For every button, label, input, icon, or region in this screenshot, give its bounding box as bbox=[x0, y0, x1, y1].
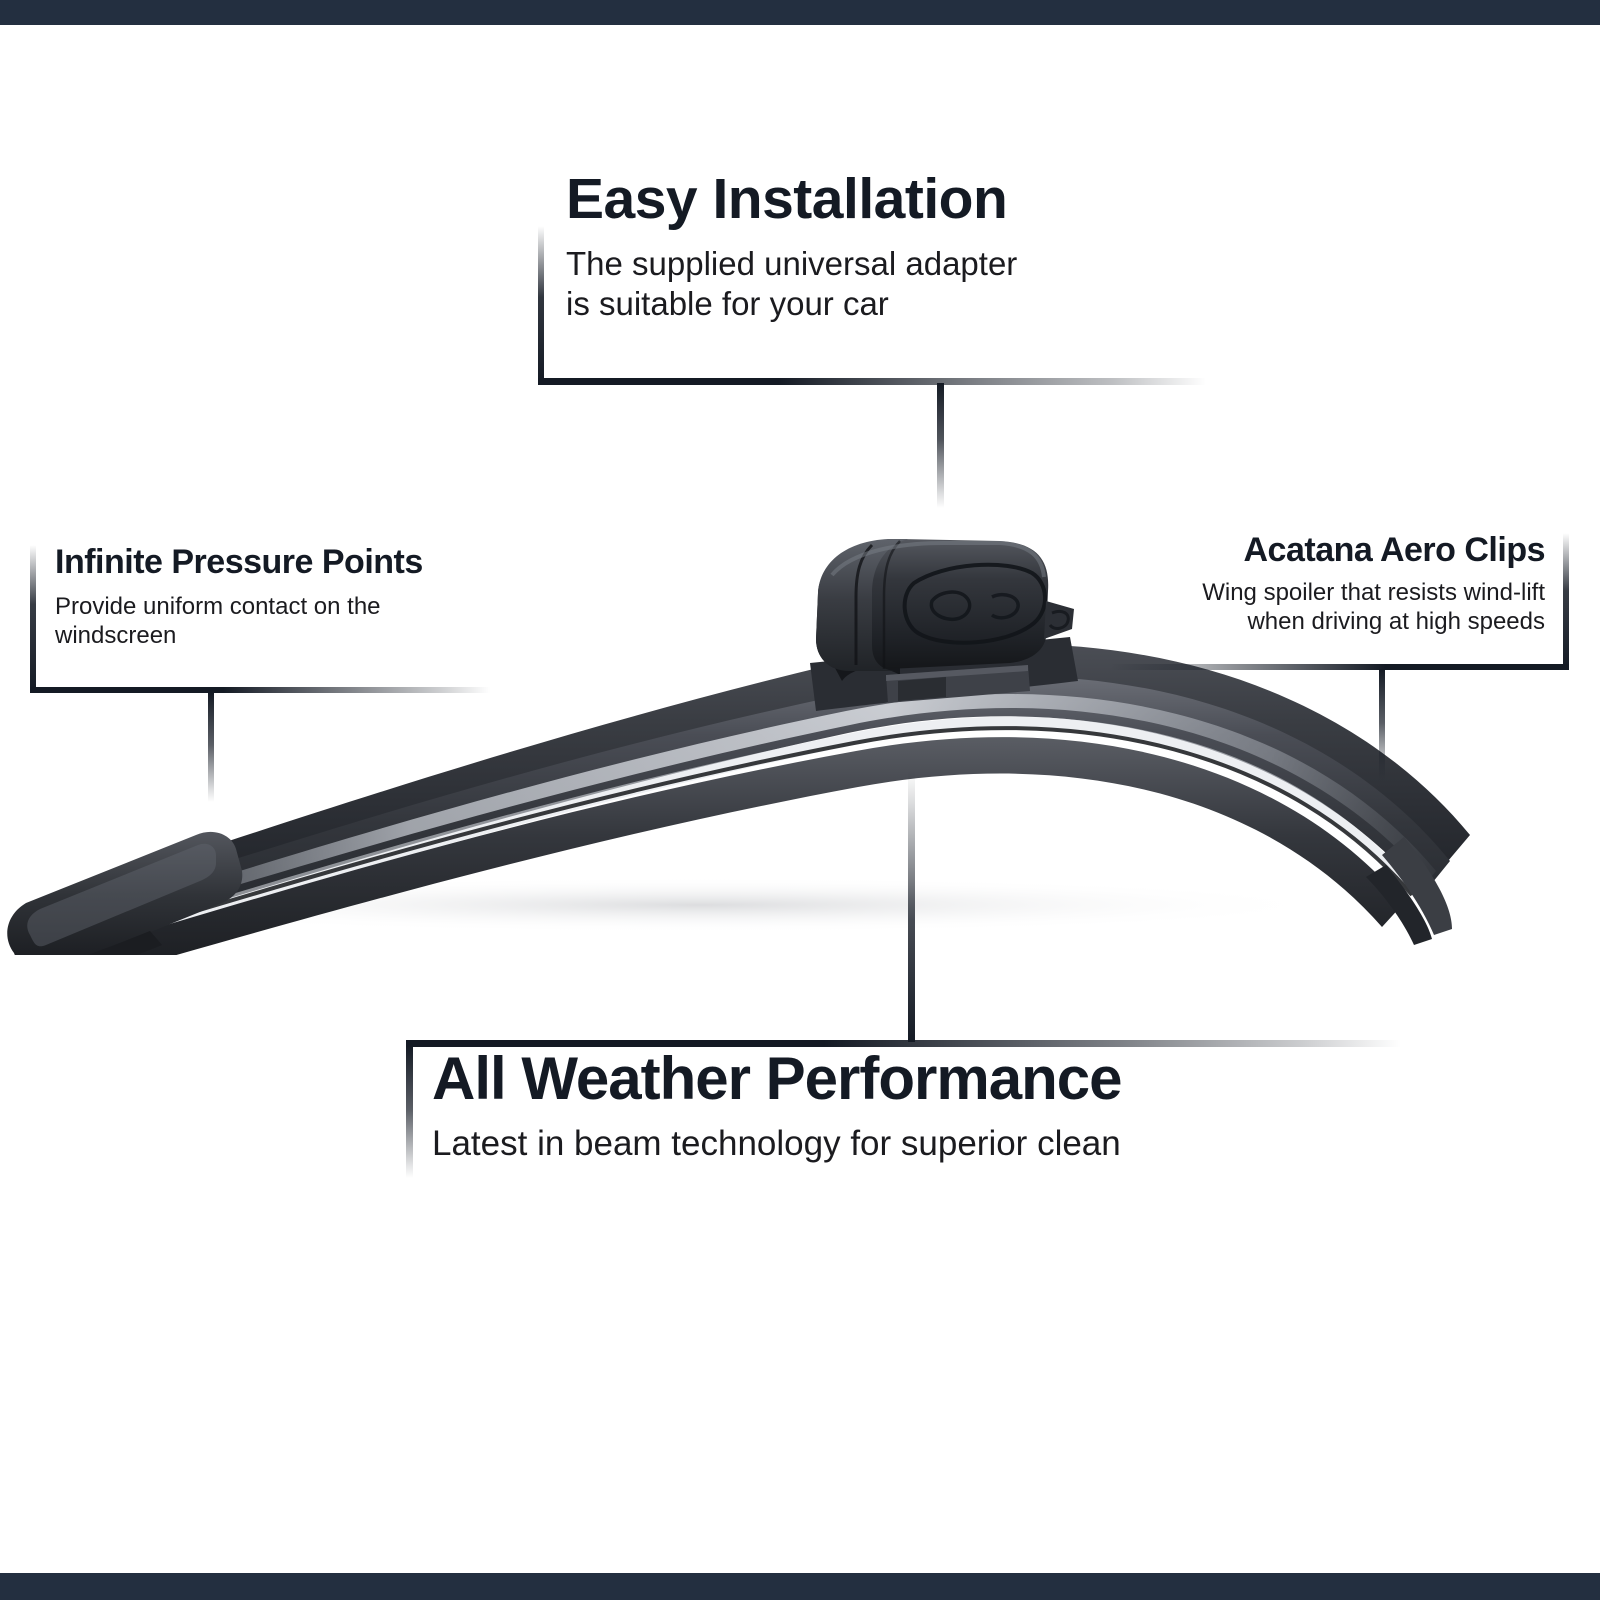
all-weather-left-rule bbox=[406, 1046, 413, 1178]
easy-installation-title: Easy Installation bbox=[540, 170, 1140, 228]
top-brand-bar bbox=[0, 0, 1600, 25]
easy-installation-subtitle: The supplied universal adapter is suitab… bbox=[540, 228, 1140, 325]
infinite-pressure-bottom-rule bbox=[30, 687, 490, 693]
aero-clips-subtitle: Wing spoiler that resists wind-lift when… bbox=[1000, 568, 1545, 637]
easy-installation-subtitle-line-1: The supplied universal adapter bbox=[566, 245, 1017, 282]
callout-acatana-aero-clips: Acatana Aero Clips Wing spoiler that res… bbox=[1000, 533, 1545, 636]
all-weather-connector-line bbox=[908, 770, 915, 1042]
easy-installation-connector-line bbox=[937, 383, 944, 508]
all-weather-title: All Weather Performance bbox=[432, 1048, 1432, 1109]
callout-easy-installation: Easy Installation The supplied universal… bbox=[540, 170, 1140, 325]
infinite-pressure-title: Infinite Pressure Points bbox=[55, 545, 615, 580]
aero-clips-title: Acatana Aero Clips bbox=[1000, 533, 1545, 568]
infinite-pressure-subtitle: Provide uniform contact on the windscree… bbox=[55, 580, 455, 651]
infinite-pressure-left-rule bbox=[30, 545, 36, 693]
aero-clips-subtitle-line-2: when driving at high speeds bbox=[1247, 608, 1545, 635]
infographic-stage: Easy Installation The supplied universal… bbox=[0, 0, 1600, 1600]
infinite-pressure-connector-line bbox=[208, 692, 214, 802]
aero-clips-bottom-rule bbox=[1110, 664, 1569, 670]
all-weather-subtitle: Latest in beam technology for superior c… bbox=[432, 1109, 1432, 1166]
aero-clips-connector-line bbox=[1379, 669, 1385, 781]
easy-installation-subtitle-line-2: is suitable for your car bbox=[566, 285, 889, 322]
easy-installation-bottom-rule bbox=[538, 378, 1206, 385]
bottom-brand-bar bbox=[0, 1573, 1600, 1600]
callout-all-weather-performance: All Weather Performance Latest in beam t… bbox=[432, 1048, 1432, 1166]
aero-clips-right-rule bbox=[1563, 533, 1569, 670]
aero-clips-subtitle-line-1: Wing spoiler that resists wind-lift bbox=[1202, 579, 1545, 606]
callout-infinite-pressure-points: Infinite Pressure Points Provide uniform… bbox=[55, 545, 615, 650]
